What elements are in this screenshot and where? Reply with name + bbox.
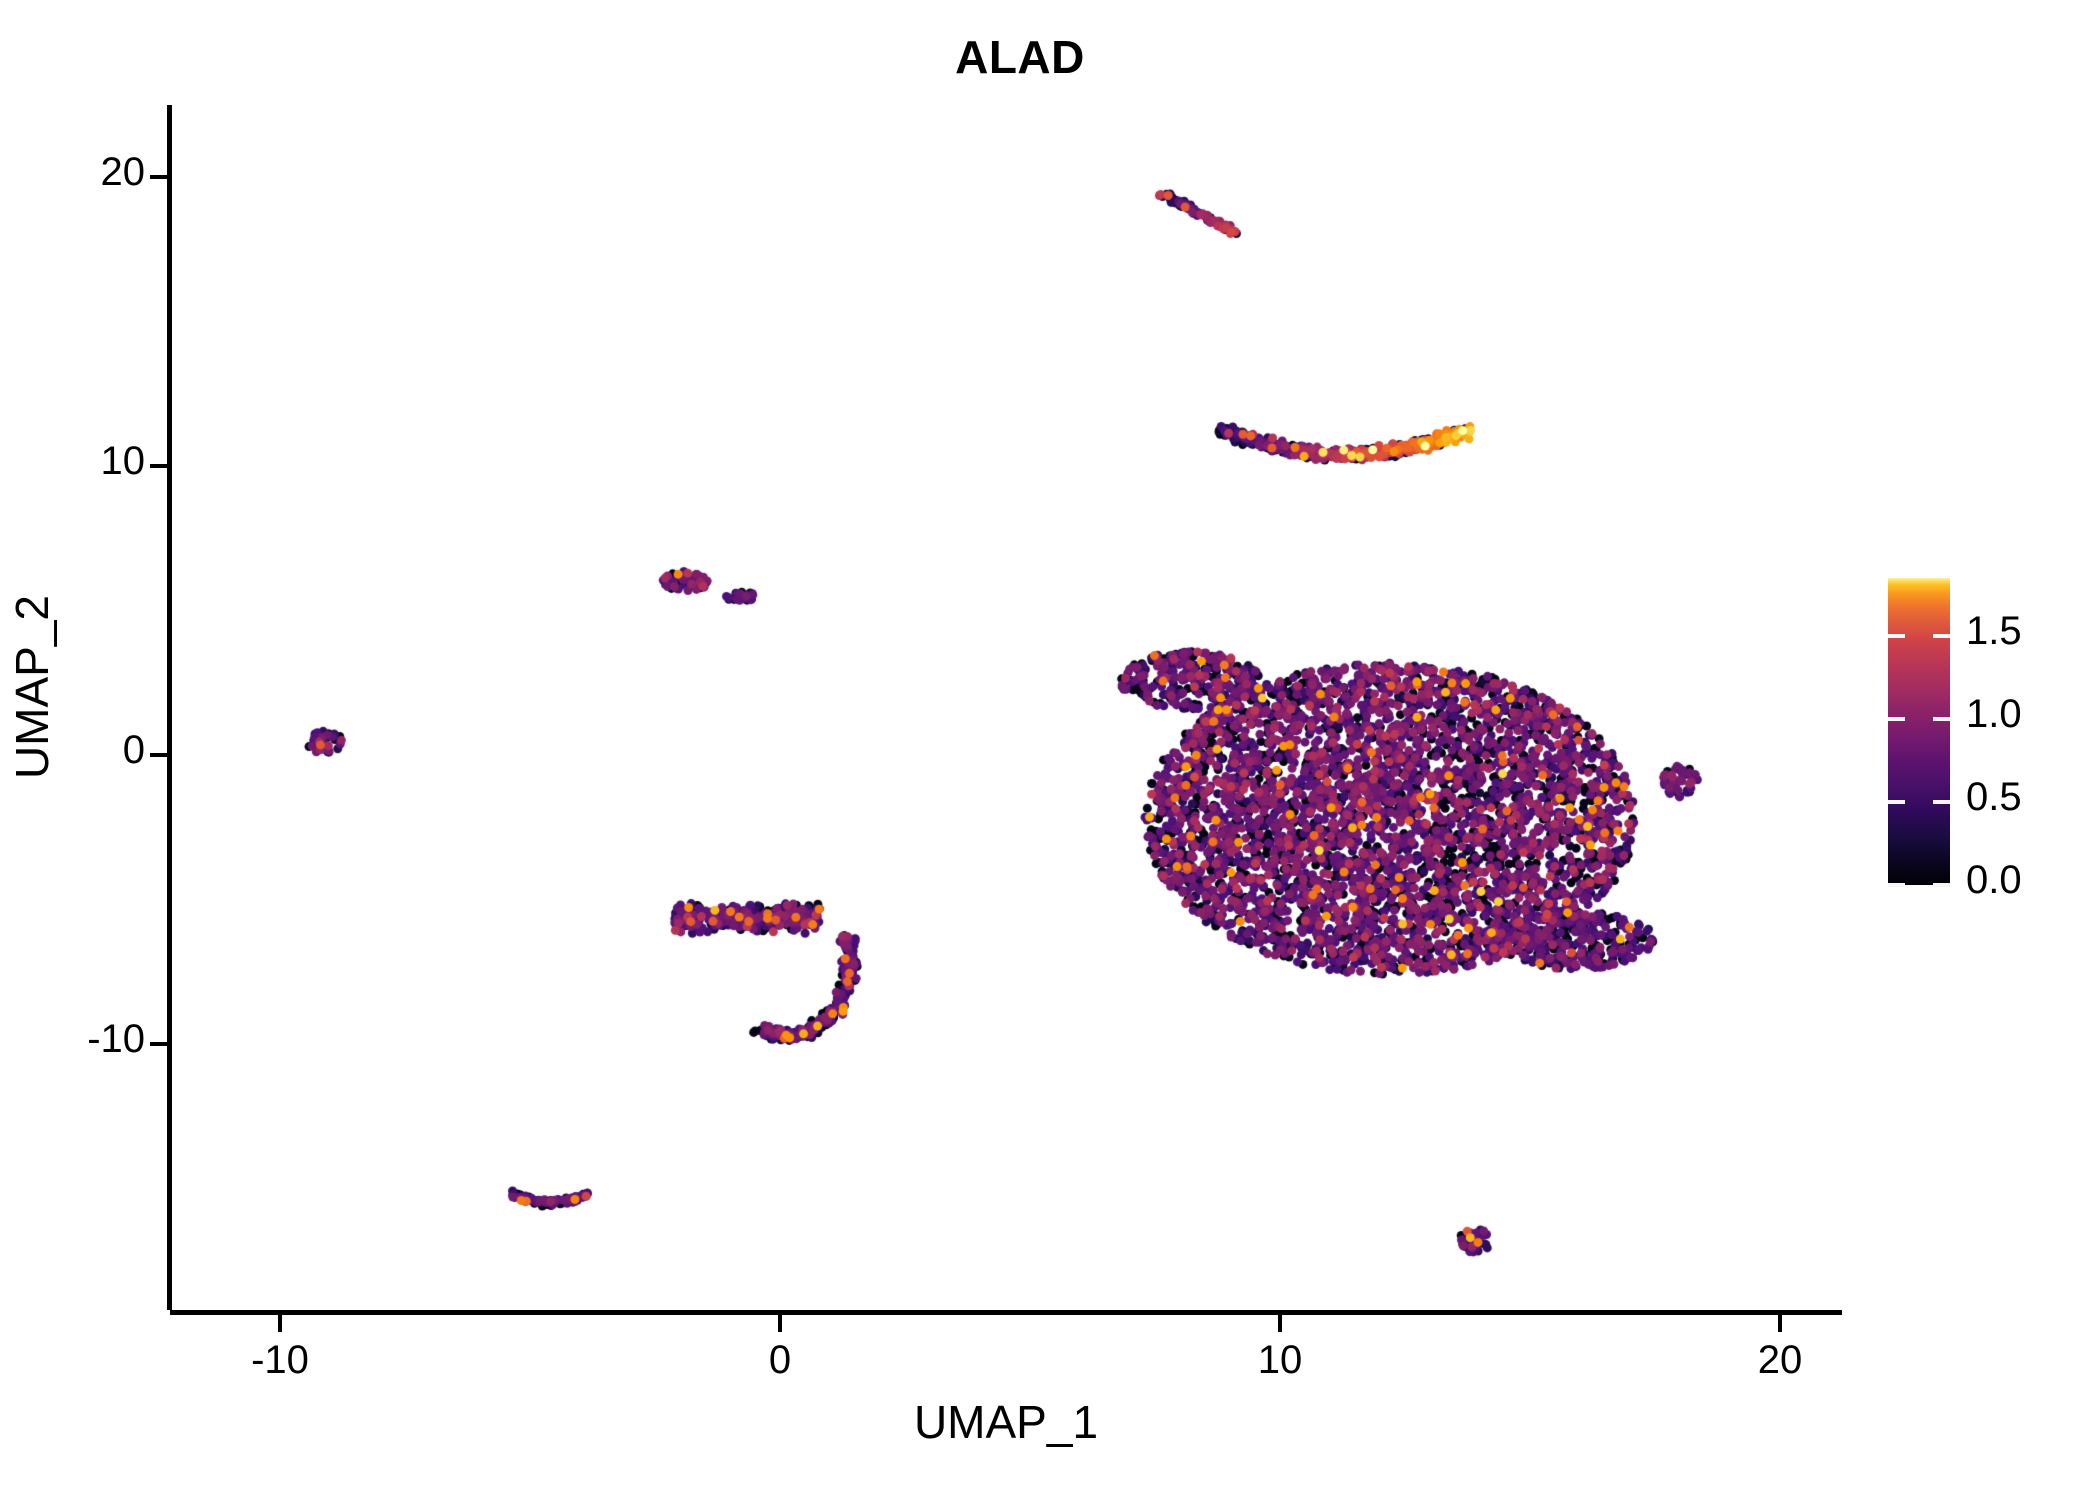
- x-axis-line: [170, 1310, 1842, 1315]
- x-tick-mark: [278, 1315, 282, 1332]
- y-tick-mark: [150, 1042, 167, 1046]
- y-tick-mark: [150, 464, 167, 468]
- y-tick-mark: [150, 753, 167, 757]
- x-tick-mark: [1278, 1315, 1282, 1332]
- colorbar-tick-mark: [1933, 717, 1950, 721]
- colorbar-tick-label: 1.0: [1966, 692, 2096, 737]
- chart-root: ALAD -1001020 20100-10 UMAP_1 UMAP_2 1.5…: [0, 0, 2100, 1500]
- plot-panel: [170, 105, 1840, 1310]
- colorbar-tick-mark: [1888, 800, 1905, 804]
- colorbar-tick-label: 0.0: [1966, 858, 2096, 903]
- chart-title: ALAD: [0, 30, 2040, 84]
- colorbar-gradient: [1888, 578, 1950, 885]
- x-tick-mark: [1778, 1315, 1782, 1332]
- colorbar-tick-mark: [1888, 717, 1905, 721]
- colorbar-tick-mark: [1888, 883, 1905, 887]
- colorbar-tick-mark: [1888, 634, 1905, 638]
- x-tick-label: -10: [200, 1338, 360, 1383]
- colorbar-tick-mark: [1933, 883, 1950, 887]
- y-tick-label: -10: [0, 1017, 145, 1062]
- y-tick-label: 20: [0, 150, 145, 195]
- colorbar-tick-mark: [1933, 800, 1950, 804]
- y-axis-line: [167, 105, 172, 1310]
- colorbar-legend: 1.51.00.50.0: [1888, 578, 2088, 888]
- colorbar-tick-label: 1.5: [1966, 609, 2096, 654]
- y-axis-label: UMAP_2: [5, 387, 59, 987]
- colorbar-tick-mark: [1933, 634, 1950, 638]
- x-tick-mark: [778, 1315, 782, 1332]
- x-axis-label: UMAP_1: [170, 1395, 1842, 1449]
- y-tick-mark: [150, 175, 167, 179]
- colorbar-tick-label: 0.5: [1966, 775, 2096, 820]
- x-tick-label: 20: [1700, 1338, 1860, 1383]
- x-tick-label: 10: [1200, 1338, 1360, 1383]
- x-tick-label: 0: [700, 1338, 860, 1383]
- scatter-points-layer: [170, 105, 1840, 1310]
